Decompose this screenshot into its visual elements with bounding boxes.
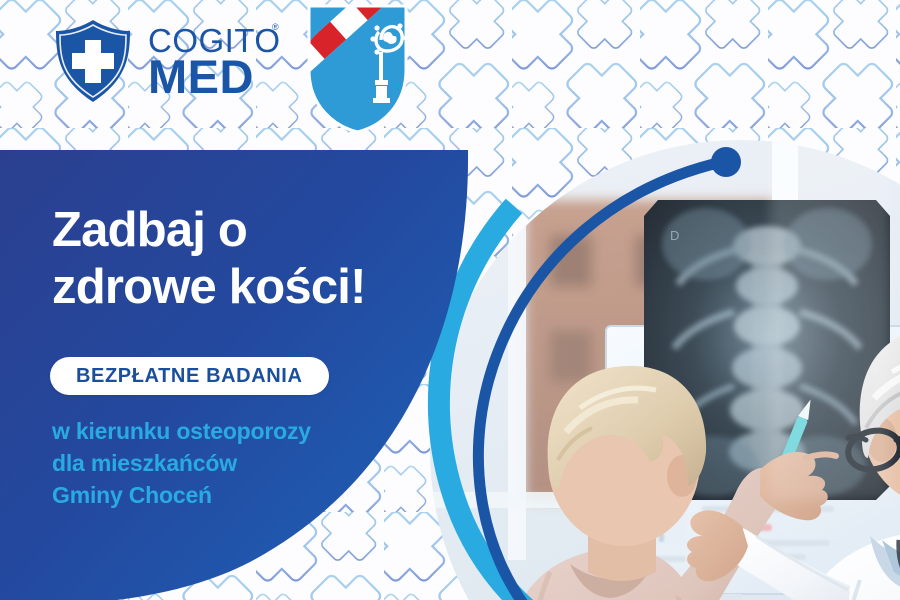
subtext-line-1: w kierunku osteoporozy [52, 415, 452, 447]
headline-line-2: zdrowe kości! [52, 259, 452, 316]
subtext-line-3: Gminy Choceń [52, 479, 452, 511]
coat-of-arms-icon [305, 2, 410, 134]
trademark-symbol: ® [272, 23, 279, 32]
headline-line-1: Zadbaj o [52, 202, 452, 259]
status-badge: BEZPŁATNE BADANIA [50, 357, 329, 395]
message-block: Zadbaj o zdrowe kości! BEZPŁATNE BADANIA… [0, 150, 470, 600]
clinic-wordmark: COGITO ® MED [148, 22, 281, 100]
campaign-details: w kierunku osteoporozy dla mieszkańców G… [52, 415, 452, 511]
promo-banner: D [0, 0, 900, 600]
shield-medical-cross-icon [52, 18, 134, 104]
page-title: Zadbaj o zdrowe kości! [52, 202, 452, 316]
wordmark-bottom: MED [148, 53, 281, 100]
subtext-line-2: dla mieszkańców [52, 447, 452, 479]
clinic-logo: COGITO ® MED [52, 18, 281, 104]
